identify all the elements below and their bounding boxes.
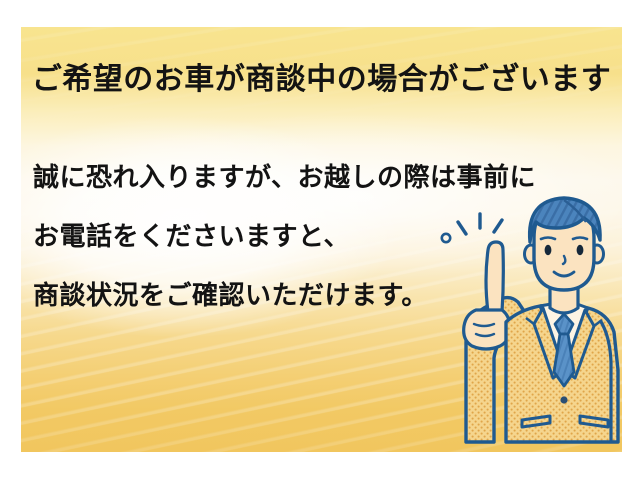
- necktie: [554, 314, 574, 386]
- gold-panel: ご希望のお車が商談中の場合がございます 誠に恐れ入りますが、お越しの際は事前に …: [21, 27, 622, 452]
- sparkle-icon: [442, 214, 502, 242]
- businessman-pointing-up-illustration: [414, 192, 622, 452]
- head: [525, 198, 604, 290]
- page-title: ご希望のお車が商談中の場合がございます: [21, 63, 622, 97]
- illustration-figure: [442, 198, 618, 442]
- pointing-hand: [464, 242, 510, 349]
- banner-canvas: ご希望のお車が商談中の場合がございます 誠に恐れ入りますが、お越しの際は事前に …: [0, 0, 640, 480]
